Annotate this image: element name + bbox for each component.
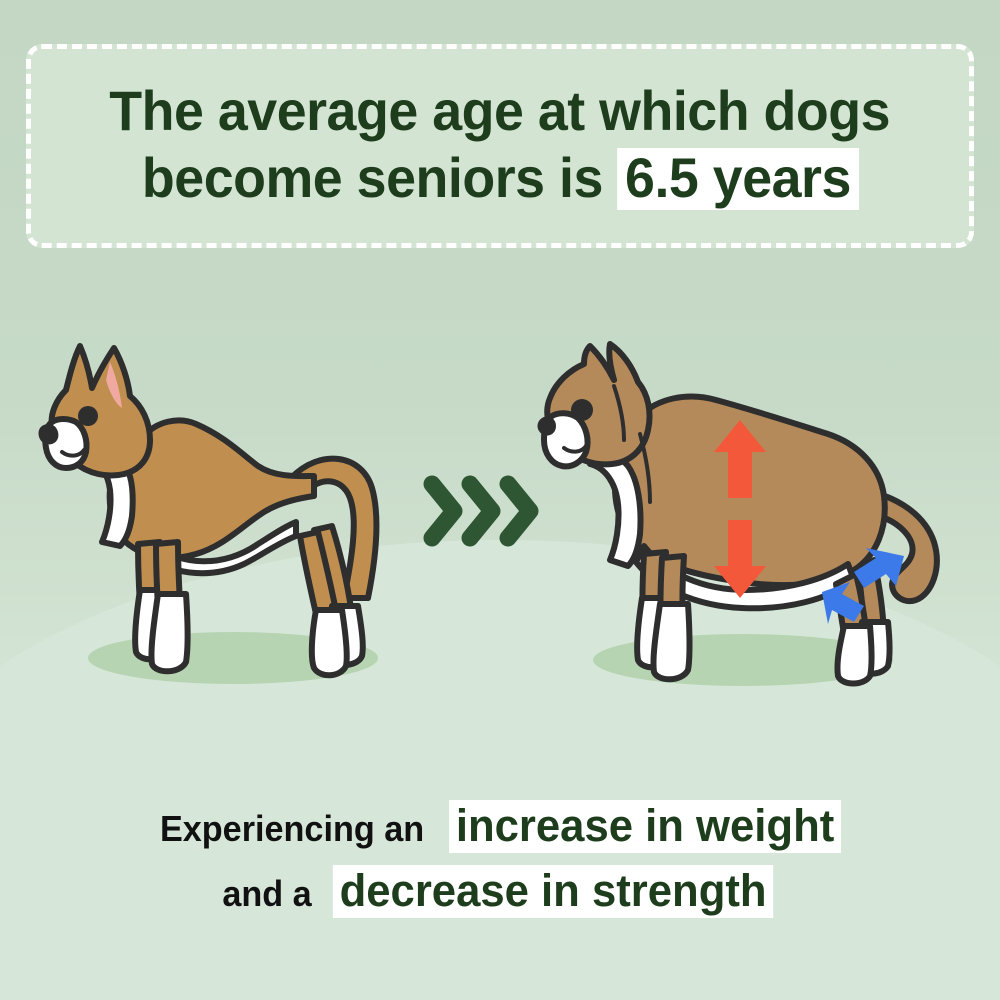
footer-line-2: and a decrease in strength [0,865,1000,918]
chevron-right-icon-3 [508,484,530,538]
footer-highlight-strength: decrease in strength [333,865,774,918]
header-highlight-age: 6.5 years [617,148,858,210]
footer-line-2-prefix: and a [222,876,311,912]
dog-eye [78,406,98,426]
chevron-right-icon-1 [432,484,454,538]
footer-highlight-weight: increase in weight [449,800,841,853]
dog-hind-paw-front [837,626,871,684]
dog-nose [538,416,557,435]
dog-eye [571,399,593,421]
senior-dog-illustration [528,342,958,700]
footer-line-1-prefix: Experiencing an [160,811,424,847]
header-panel: The average age at which dogs become sen… [26,44,974,248]
footer-line-1: Experiencing an increase in weight [0,800,1000,853]
footer-text-block: Experiencing an increase in weight and a… [0,800,1000,918]
infographic-canvas: The average age at which dogs become sen… [0,0,1000,1000]
chevron-right-icon-2 [470,484,492,538]
dog-hind-paw-front [312,610,347,675]
dog-fore-paw-front [151,594,187,671]
header-line-1: The average age at which dogs [110,82,891,139]
dog-fore-paw-front [653,604,689,679]
healthy-dog-illustration [28,330,428,700]
header-line-2-prefix: become seniors is [142,146,603,209]
header-line-2: become seniors is 6.5 years [142,148,859,210]
dog-nose [39,424,59,444]
